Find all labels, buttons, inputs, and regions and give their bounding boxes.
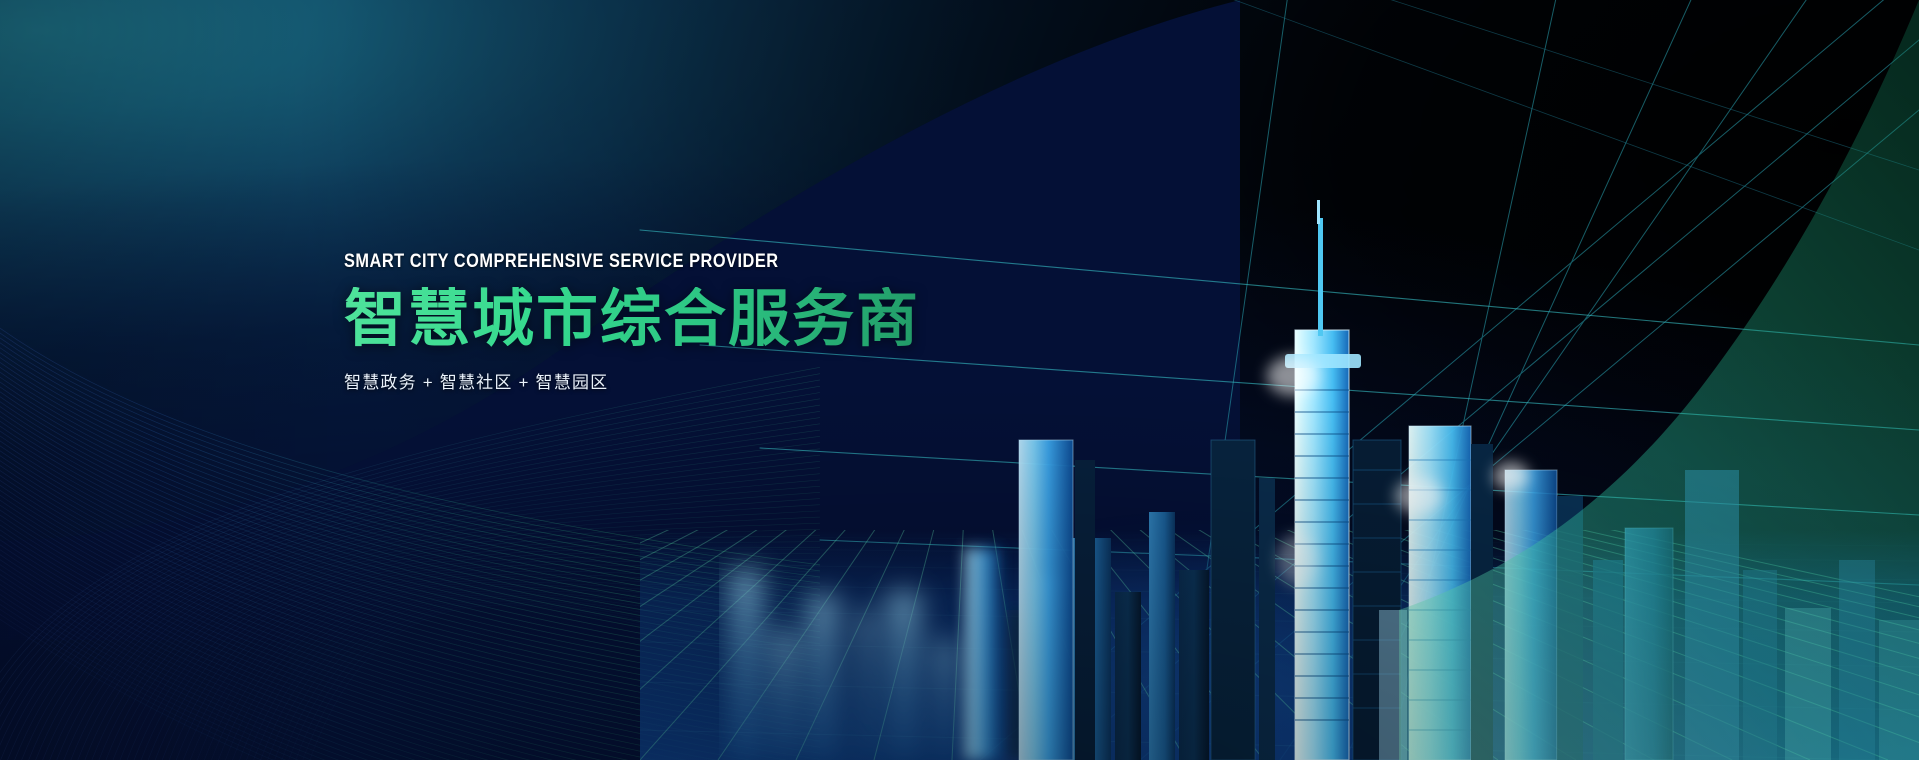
hero-copy-block: SMART CITY COMPREHENSIVE SERVICE PROVIDE… xyxy=(344,252,1104,393)
page-title: 智慧城市综合服务商 xyxy=(344,287,1104,354)
green-curve-overlay-icon xyxy=(1399,0,1919,760)
hero-eyebrow: SMART CITY COMPREHENSIVE SERVICE PROVIDE… xyxy=(344,252,998,273)
hero-subtitle: 智慧政务 + 智慧社区 + 智慧园区 xyxy=(344,368,1104,393)
smart-city-hero-banner: SMART CITY COMPREHENSIVE SERVICE PROVIDE… xyxy=(0,0,1919,760)
